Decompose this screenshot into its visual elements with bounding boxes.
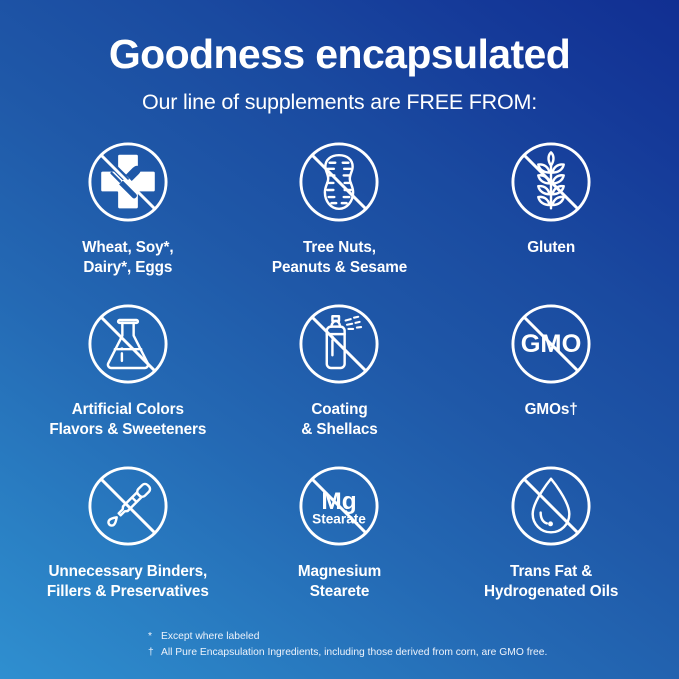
- free-from-item-gmos: GMO GMOs†: [445, 297, 657, 459]
- footnote-mark: †: [148, 645, 161, 661]
- free-from-item-coating-shellacs: Coating & Shellacs: [234, 297, 446, 459]
- free-from-item-magnesium-stearate: Mg Stearate Magnesium Stearete: [234, 459, 446, 621]
- no-binders-fillers-preservatives-icon: [81, 459, 175, 553]
- page-subtitle: Our line of supplements are FREE FROM:: [0, 90, 679, 115]
- poster-header: Goodness encapsulated Our line of supple…: [0, 0, 679, 115]
- no-artificial-colors-icon: [81, 297, 175, 391]
- footnote-text: Except where labeled: [161, 629, 679, 645]
- no-magnesium-stearate-icon: Mg Stearate: [292, 459, 386, 553]
- free-from-item-label: Tree Nuts, Peanuts & Sesame: [272, 238, 407, 277]
- free-from-item-label: Unnecessary Binders, Fillers & Preservat…: [47, 562, 209, 601]
- footnote-mark: *: [148, 629, 161, 645]
- no-trans-fat-hydrogenated-oils-icon: [504, 459, 598, 553]
- free-from-item-artificial-colors: Artificial Colors Flavors & Sweeteners: [22, 297, 234, 459]
- footnote-text: All Pure Encapsulation Ingredients, incl…: [161, 645, 679, 661]
- free-from-item-label: Wheat, Soy*, Dairy*, Eggs: [82, 238, 173, 277]
- free-from-item-tree-nuts-peanuts-sesame: Tree Nuts, Peanuts & Sesame: [234, 135, 446, 297]
- free-from-item-gluten: Gluten: [445, 135, 657, 297]
- free-from-item-wheat-soy-dairy-eggs: Wheat, Soy*, Dairy*, Eggs: [22, 135, 234, 297]
- footnote-asterisk: * Except where labeled: [148, 629, 679, 645]
- page-title: Goodness encapsulated: [0, 33, 679, 76]
- footnotes: * Except where labeled † All Pure Encaps…: [0, 629, 679, 661]
- free-from-item-label: GMOs†: [525, 400, 578, 420]
- no-gmo-icon: GMO: [504, 297, 598, 391]
- free-from-grid: Wheat, Soy*, Dairy*, Eggs: [0, 135, 679, 621]
- no-coating-shellacs-icon: [292, 297, 386, 391]
- free-from-item-trans-fat-hydrogenated-oils: Trans Fat & Hydrogenated Oils: [445, 459, 657, 621]
- free-from-item-binders-fillers-preservatives: Unnecessary Binders, Fillers & Preservat…: [22, 459, 234, 621]
- free-from-item-label: Magnesium Stearete: [298, 562, 381, 601]
- free-from-item-label: Gluten: [527, 238, 575, 258]
- free-from-item-label: Trans Fat & Hydrogenated Oils: [484, 562, 618, 601]
- no-tree-nuts-peanuts-sesame-icon: [292, 135, 386, 229]
- free-from-item-label: Artificial Colors Flavors & Sweeteners: [49, 400, 206, 439]
- footnote-dagger: † All Pure Encapsulation Ingredients, in…: [148, 645, 679, 661]
- free-from-item-label: Coating & Shellacs: [301, 400, 377, 439]
- no-gluten-icon: [504, 135, 598, 229]
- free-from-poster: Goodness encapsulated Our line of supple…: [0, 0, 679, 679]
- no-wheat-soy-dairy-eggs-icon: [81, 135, 175, 229]
